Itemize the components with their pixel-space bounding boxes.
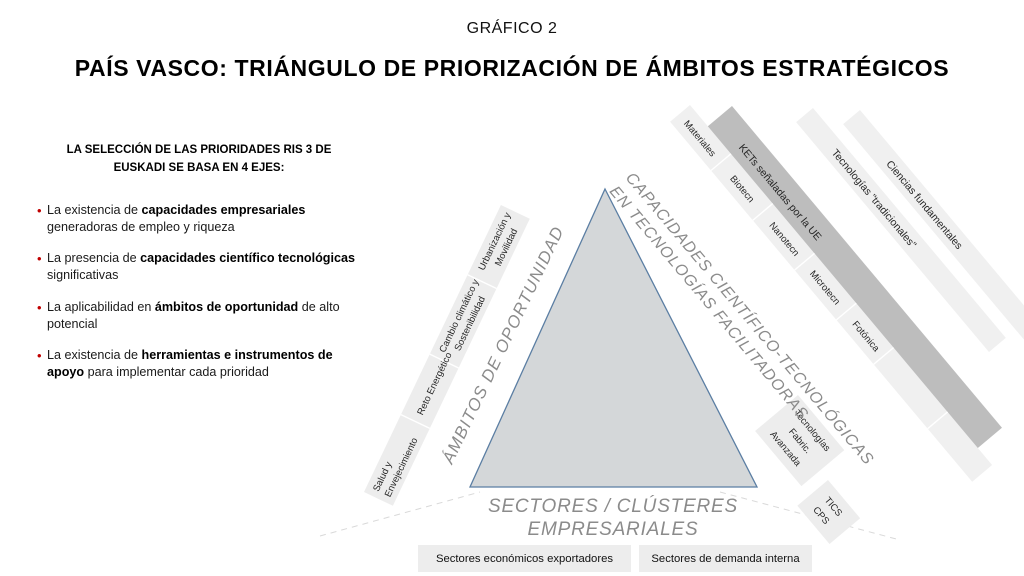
bullet-pre: La aplicabilidad en (47, 300, 155, 314)
bullet-marker-icon: • (34, 299, 47, 317)
axis-title-bottom-line1: SECTORES / CLÚSTERES (488, 495, 738, 517)
sector-box-exporting[interactable]: Sectores económicos exportadores (418, 545, 631, 572)
bullet-pre: La existencia de (47, 203, 142, 217)
figure-label: GRÁFICO 2 (0, 20, 1024, 38)
bullet-post: para implementar cada prioridad (84, 365, 269, 379)
bullet-strong: capacidades empresariales (142, 203, 306, 217)
sector-box-internal-demand[interactable]: Sectores de demanda interna (639, 545, 812, 572)
bullet-marker-icon: • (34, 250, 47, 268)
bullet-marker-icon: • (34, 347, 47, 365)
bullet-pre: La existencia de (47, 348, 142, 362)
page-title: PAÍS VASCO: TRIÁNGULO DE PRIORIZACIÓN DE… (0, 55, 1024, 82)
baseline-guide-left (320, 492, 480, 536)
bullet-marker-icon: • (34, 202, 47, 220)
axis-title-bottom-line2: EMPRESARIALES (528, 519, 699, 540)
bullet-post: generadoras de empleo y riqueza (47, 220, 235, 234)
bullet-pre: La presencia de (47, 251, 140, 265)
priority-triangle-diagram: Ciencias fundamentales Tecnologías "trad… (300, 100, 1024, 576)
ket-item-tics-cps-box[interactable] (797, 480, 860, 544)
traditional-technologies-label: Tecnologías "tradicionales" (829, 147, 919, 251)
bullet-strong: ámbitos de oportunidad (155, 300, 298, 314)
bullet-post: significativas (47, 268, 118, 282)
